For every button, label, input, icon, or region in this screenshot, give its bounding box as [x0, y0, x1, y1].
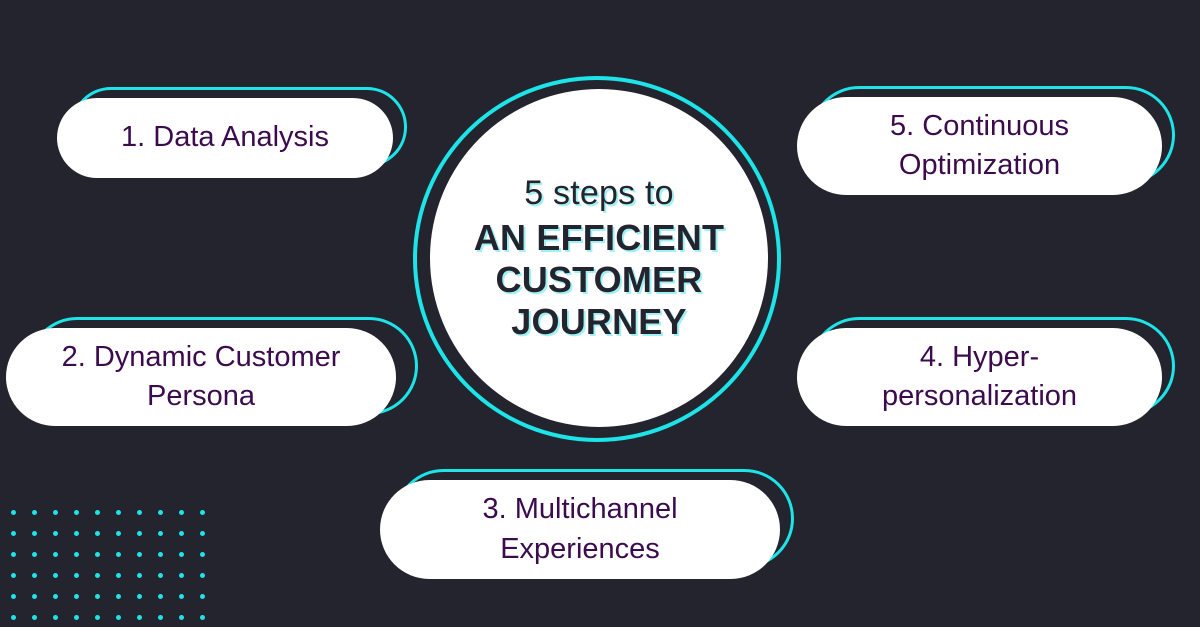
- decorative-dot: [95, 510, 100, 515]
- decorative-dot: [95, 615, 100, 620]
- step-card-4-line-2: personalization: [882, 377, 1077, 416]
- step-card-5[interactable]: 5. Continuous Optimization: [797, 97, 1162, 195]
- decorative-dot: [158, 531, 163, 536]
- step-card-4-line-1: 4. Hyper-: [920, 338, 1039, 377]
- decorative-dot: [53, 573, 58, 578]
- decorative-dot: [137, 615, 142, 620]
- decorative-dot: [200, 531, 205, 536]
- decorative-dot: [32, 552, 37, 557]
- decorative-dot: [95, 531, 100, 536]
- step-card-1-line-1: 1. Data Analysis: [121, 118, 329, 157]
- decorative-dot: [53, 510, 58, 515]
- decorative-dot: [200, 573, 205, 578]
- step-card-2-body: 2. Dynamic Customer Persona: [6, 328, 396, 426]
- hub-main-line-3: JOURNEY: [511, 301, 686, 343]
- decorative-dot: [158, 552, 163, 557]
- decorative-dot: [32, 594, 37, 599]
- decorative-dot: [137, 573, 142, 578]
- decorative-dot: [116, 573, 121, 578]
- step-card-3-line-1: 3. Multichannel: [482, 490, 677, 529]
- step-card-1-body: 1. Data Analysis: [57, 98, 393, 178]
- infographic-canvas: 5 steps to AN EFFICIENT CUSTOMER JOURNEY…: [0, 0, 1200, 627]
- decorative-dot: [116, 552, 121, 557]
- decorative-dot: [95, 594, 100, 599]
- step-card-2[interactable]: 2. Dynamic Customer Persona: [6, 328, 396, 426]
- decorative-dot: [158, 573, 163, 578]
- decorative-dot: [200, 552, 205, 557]
- decorative-dot: [158, 594, 163, 599]
- decorative-dot: [179, 531, 184, 536]
- decorative-dot: [116, 615, 121, 620]
- decorative-dot: [11, 594, 16, 599]
- decorative-dot: [74, 573, 79, 578]
- decorative-dot: [137, 552, 142, 557]
- step-card-2-line-1: 2. Dynamic Customer: [62, 338, 341, 377]
- decorative-dot: [116, 594, 121, 599]
- decorative-dot: [53, 615, 58, 620]
- decorative-dot: [179, 573, 184, 578]
- decorative-dot: [11, 615, 16, 620]
- decorative-dot: [200, 615, 205, 620]
- decorative-dot: [95, 552, 100, 557]
- center-hub: 5 steps to AN EFFICIENT CUSTOMER JOURNEY: [413, 76, 787, 448]
- decorative-dot: [158, 510, 163, 515]
- decorative-dot: [137, 594, 142, 599]
- decorative-dot: [32, 615, 37, 620]
- step-card-1[interactable]: 1. Data Analysis: [57, 98, 393, 178]
- step-card-5-body: 5. Continuous Optimization: [797, 97, 1162, 195]
- decorative-dot: [116, 510, 121, 515]
- decorative-dot: [11, 552, 16, 557]
- step-card-3-body: 3. Multichannel Experiences: [380, 480, 780, 579]
- step-card-4[interactable]: 4. Hyper- personalization: [797, 328, 1162, 426]
- decorative-dot: [74, 615, 79, 620]
- decorative-dot: [179, 594, 184, 599]
- decorative-dot: [95, 573, 100, 578]
- decorative-dot: [200, 594, 205, 599]
- decorative-dot: [74, 510, 79, 515]
- decorative-dot: [137, 531, 142, 536]
- decorative-dot: [74, 594, 79, 599]
- decorative-dot: [137, 510, 142, 515]
- hub-lead-line: 5 steps to: [524, 174, 673, 213]
- decorative-dot: [74, 531, 79, 536]
- decorative-dot: [11, 510, 16, 515]
- decorative-dot: [116, 531, 121, 536]
- decorative-dot: [200, 510, 205, 515]
- dot-grid-decoration: [11, 510, 216, 622]
- decorative-dot: [32, 510, 37, 515]
- hub-main-line-1: AN EFFICIENT: [474, 217, 724, 259]
- step-card-3-line-2: Experiences: [500, 530, 660, 569]
- decorative-dot: [179, 552, 184, 557]
- decorative-dot: [179, 510, 184, 515]
- decorative-dot: [11, 573, 16, 578]
- step-card-4-body: 4. Hyper- personalization: [797, 328, 1162, 426]
- decorative-dot: [53, 531, 58, 536]
- decorative-dot: [53, 594, 58, 599]
- step-card-5-line-2: Optimization: [899, 146, 1060, 185]
- decorative-dot: [179, 615, 184, 620]
- hub-disc: 5 steps to AN EFFICIENT CUSTOMER JOURNEY: [430, 89, 768, 427]
- decorative-dot: [11, 531, 16, 536]
- step-card-3[interactable]: 3. Multichannel Experiences: [380, 480, 780, 579]
- step-card-5-line-1: 5. Continuous: [890, 107, 1069, 146]
- decorative-dot: [74, 552, 79, 557]
- decorative-dot: [32, 531, 37, 536]
- hub-main-line-2: CUSTOMER: [496, 259, 703, 301]
- decorative-dot: [32, 573, 37, 578]
- decorative-dot: [53, 552, 58, 557]
- decorative-dot: [158, 615, 163, 620]
- step-card-2-line-2: Persona: [147, 377, 255, 416]
